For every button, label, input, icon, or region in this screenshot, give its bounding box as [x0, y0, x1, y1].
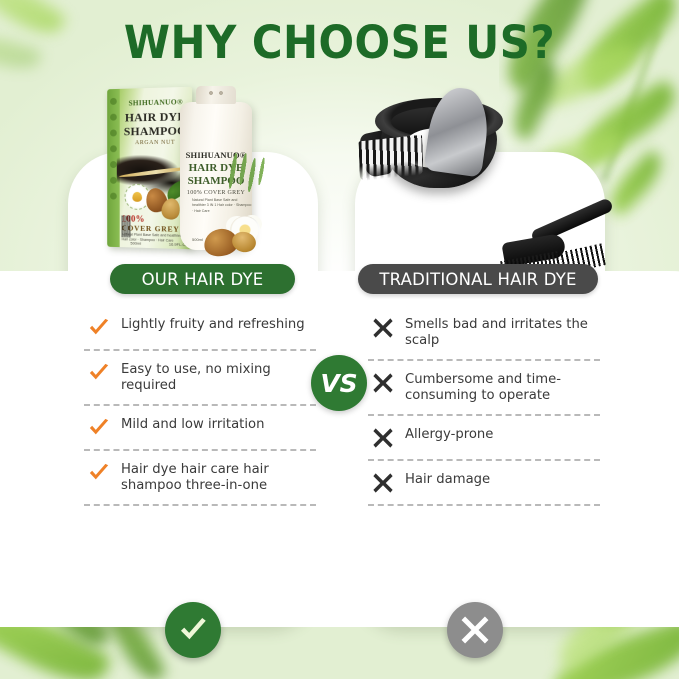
list-item: Hair dye hair care hair shampoo three-in… [84, 451, 316, 506]
herb-sprig-decoration [220, 143, 273, 204]
check-circle-icon [165, 602, 221, 658]
feature-text: Allergy-prone [405, 426, 493, 443]
traditional-feature-list: Smells bad and irritates the scalp Cumbe… [368, 306, 600, 506]
list-item: Cumbersome and time-consuming to operate [368, 361, 600, 416]
check-icon [88, 317, 110, 339]
our-feature-list: Lightly fruity and refreshing Easy to us… [84, 306, 316, 506]
cross-circle-icon [447, 602, 503, 658]
feature-text: Smells bad and irritates the scalp [405, 316, 594, 349]
box-volume-ml: 500ml [130, 240, 141, 245]
list-item: Easy to use, no mixing required [84, 351, 316, 406]
page-title: WHY CHOOSE US? [24, 16, 655, 69]
feature-text: Easy to use, no mixing required [121, 361, 310, 394]
check-icon [88, 417, 110, 439]
list-item: Mild and low irritation [84, 406, 316, 451]
product-bottle: SHIHUANUO® HAIR DYE SHAMPOO 100% COVER G… [180, 102, 252, 250]
cross-icon [372, 372, 394, 394]
bottle-fine-print: Natural Plant Base Safe and healthier 3 … [192, 198, 252, 214]
our-product-image: SHIHUANUO® HAIR DYE SHAMPOO ARGAN NUT 10… [68, 76, 318, 266]
list-item: Smells bad and irritates the scalp [368, 306, 600, 361]
vs-badge: VS [311, 355, 367, 411]
feature-text: Hair dye hair care hair shampoo three-in… [121, 461, 310, 494]
cross-icon [372, 317, 394, 339]
traditional-hair-dye-label: TRADITIONAL HAIR DYE [358, 264, 598, 294]
box-barcode [122, 216, 131, 238]
cross-icon [372, 427, 394, 449]
bottle-volume-ml: 500ml [192, 237, 203, 242]
box-subtitle: ARGAN NUT [122, 140, 189, 147]
list-item: Hair damage [368, 461, 600, 506]
our-hair-dye-label: OUR HAIR DYE [110, 264, 295, 294]
traditional-product-image [355, 76, 605, 266]
feature-text: Hair damage [405, 471, 490, 488]
list-item: Lightly fruity and refreshing [84, 306, 316, 351]
feature-text: Cumbersome and time-consuming to operate [405, 371, 594, 404]
cross-icon [372, 472, 394, 494]
list-item: Allergy-prone [368, 416, 600, 461]
check-icon [88, 362, 110, 384]
box-title-line2: SHAMPOO [122, 123, 189, 139]
check-icon [88, 462, 110, 484]
bottle-cap [196, 86, 236, 104]
feature-text: Mild and low irritation [121, 416, 264, 433]
box-brand: SHIHUANUO® [124, 97, 189, 108]
dye-mixing-bowl [375, 98, 503, 194]
feature-text: Lightly fruity and refreshing [121, 316, 305, 333]
